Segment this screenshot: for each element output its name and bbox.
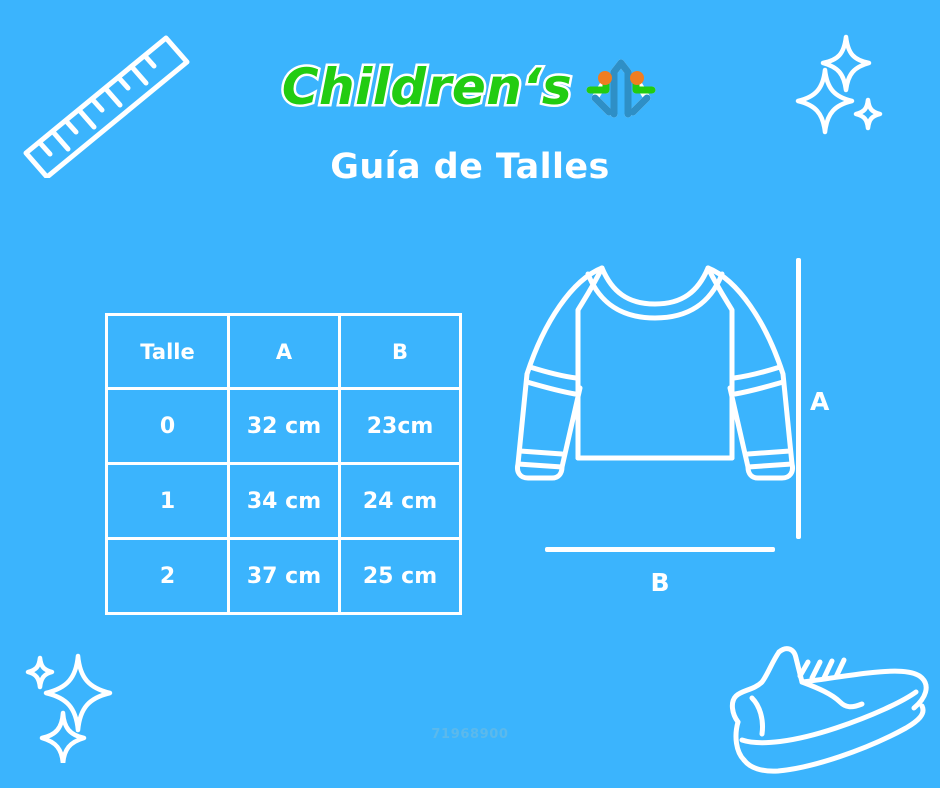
cell-a: 37 cm: [229, 539, 340, 614]
size-guide-poster: Childrenʻs Guía de Talles: [0, 0, 940, 788]
brand-wordmark: Childrenʻs: [282, 62, 572, 112]
cell-talle: 0: [107, 389, 229, 464]
column-header-b: B: [340, 315, 461, 389]
sparkles-icon: [16, 648, 131, 763]
cell-a: 34 cm: [229, 464, 340, 539]
sweater-outline-illustration: [500, 248, 810, 548]
page-title: Guía de Talles: [0, 148, 940, 187]
table-row: 1 34 cm 24 cm: [107, 464, 461, 539]
size-table: Talle A B 0 32 cm 23cm 1 34 cm 24 cm 2 3…: [105, 313, 462, 615]
brand-header: Childrenʻs: [0, 48, 940, 126]
garment-diagram: A B: [500, 248, 860, 608]
dimension-label-a: A: [810, 389, 829, 414]
cell-a: 32 cm: [229, 389, 340, 464]
table-row: 0 32 cm 23cm: [107, 389, 461, 464]
dimension-line-a: [796, 258, 801, 539]
column-header-a: A: [229, 315, 340, 389]
cell-b: 25 cm: [340, 539, 461, 614]
two-children-figures-icon: [584, 52, 658, 122]
cell-b: 23cm: [340, 389, 461, 464]
watermark-text: 71968900: [0, 727, 940, 742]
dimension-label-b: B: [545, 570, 775, 595]
cell-talle: 1: [107, 464, 229, 539]
sneaker-icon: [716, 636, 934, 784]
dimension-line-b: [545, 547, 775, 552]
cell-b: 24 cm: [340, 464, 461, 539]
table-header-row: Talle A B: [107, 315, 461, 389]
table-row: 2 37 cm 25 cm: [107, 539, 461, 614]
column-header-talle: Talle: [107, 315, 229, 389]
cell-talle: 2: [107, 539, 229, 614]
